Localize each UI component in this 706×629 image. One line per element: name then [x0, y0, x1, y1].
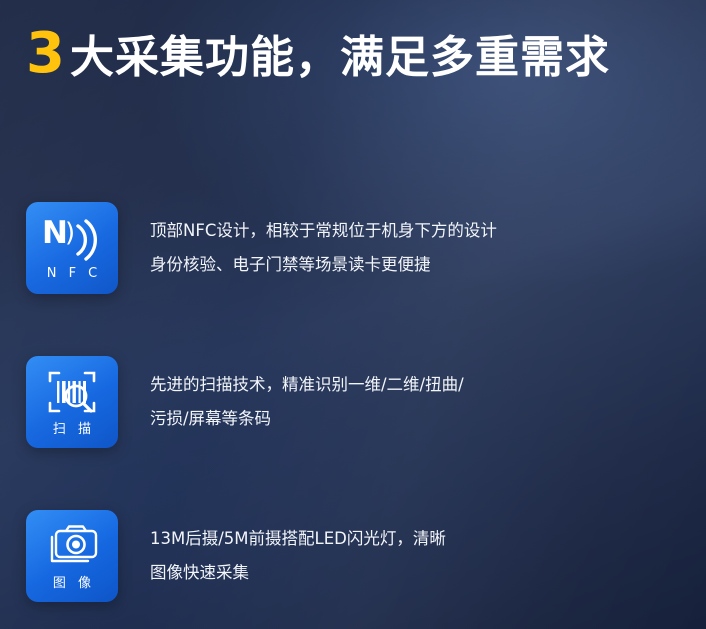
page-title: 3 大采集功能，满足多重需求 — [26, 26, 610, 82]
barcode-scan-icon — [45, 368, 99, 416]
feature-text-image: 13M后摄/5M前摄搭配LED闪光灯，清晰 图像快速采集 — [150, 510, 446, 590]
nfc-icon: N ) — [42, 216, 102, 264]
scan-icon-caption: 扫 描 — [49, 418, 95, 437]
feature-nfc-line1: 顶部NFC设计，相较于常规位于机身下方的设计 — [150, 221, 497, 240]
camera-icon — [44, 522, 100, 570]
feature-scan-line2: 污损/屏幕等条码 — [150, 402, 464, 436]
nfc-icon-tile: N ) N F C — [26, 202, 118, 294]
feature-text-nfc: 顶部NFC设计，相较于常规位于机身下方的设计 身份核验、电子门禁等场景读卡更便捷 — [150, 202, 497, 282]
heading-number: 3 — [26, 26, 64, 82]
feature-row-nfc: N ) N F C 顶部NFC设计，相较于常规位于机身下方的设计 身份核验、电子… — [26, 202, 497, 294]
feature-nfc-line2: 身份核验、电子门禁等场景读卡更便捷 — [150, 248, 497, 282]
heading-text: 大采集功能，满足多重需求 — [70, 36, 610, 80]
feature-scan-line1: 先进的扫描技术，精准识别一维/二维/扭曲/ — [150, 375, 464, 394]
nfc-icon-caption: N F C — [43, 266, 102, 281]
image-icon-caption: 图 像 — [49, 572, 95, 591]
feature-image-line2: 图像快速采集 — [150, 556, 446, 590]
feature-row-image: 图 像 13M后摄/5M前摄搭配LED闪光灯，清晰 图像快速采集 — [26, 510, 446, 602]
feature-row-scan: 扫 描 先进的扫描技术，精准识别一维/二维/扭曲/ 污损/屏幕等条码 — [26, 356, 464, 448]
feature-text-scan: 先进的扫描技术，精准识别一维/二维/扭曲/ 污损/屏幕等条码 — [150, 356, 464, 436]
poster-page: 3 大采集功能，满足多重需求 N ) N F C 顶部NFC设计，相较于常规位于… — [0, 0, 706, 629]
scan-icon-tile: 扫 描 — [26, 356, 118, 448]
image-icon-tile: 图 像 — [26, 510, 118, 602]
feature-image-line1: 13M后摄/5M前摄搭配LED闪光灯，清晰 — [150, 529, 446, 548]
